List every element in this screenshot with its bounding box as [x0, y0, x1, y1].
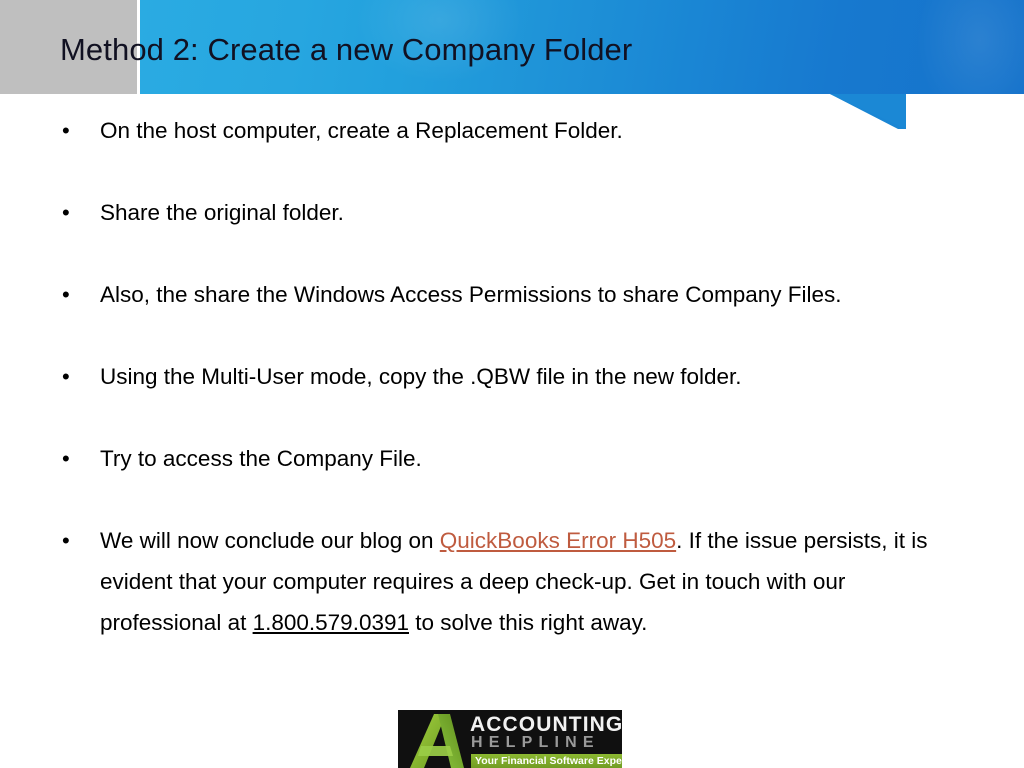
bullet-marker-icon: • [62, 274, 100, 315]
bullet-marker-icon: • [62, 438, 100, 479]
bullet-spacer [0, 479, 1024, 520]
logo-wordmark-helpline: HELPLINE [471, 734, 600, 751]
support-phone-number[interactable]: 1.800.579.0391 [253, 610, 409, 635]
logo-wordmark-accounting: ACCOUNTING [470, 714, 622, 736]
list-item: • Also, the share the Windows Access Per… [0, 274, 1024, 315]
bullet-marker-icon: • [62, 356, 100, 397]
list-item-text: Try to access the Company File. [100, 438, 422, 479]
logo-a-mark-icon [404, 712, 466, 768]
bullet-spacer [0, 397, 1024, 438]
bullet-spacer [0, 315, 1024, 356]
list-item-text: On the host computer, create a Replaceme… [100, 110, 623, 151]
conclusion-text-part-1: We will now conclude our blog on [100, 528, 440, 553]
list-item: • Using the Multi-User mode, copy the .Q… [0, 356, 1024, 397]
list-item: • Share the original folder. [0, 192, 1024, 233]
list-item-text: We will now conclude our blog on QuickBo… [100, 520, 965, 643]
logo-tagline-text: Your Financial Software Expert [475, 754, 622, 768]
list-item: • Try to access the Company File. [0, 438, 1024, 479]
list-item-text: Using the Multi-User mode, copy the .QBW… [100, 356, 742, 397]
quickbooks-error-link[interactable]: QuickBooks Error H505 [440, 528, 676, 553]
conclusion-text-part-3: to solve this right away. [409, 610, 647, 635]
bullet-marker-icon: • [62, 520, 100, 561]
bullet-list: • On the host computer, create a Replace… [0, 110, 1024, 643]
bullet-spacer [0, 151, 1024, 192]
bullet-marker-icon: • [62, 110, 100, 151]
accounting-helpline-logo: ACCOUNTING HELPLINE Your Financial Softw… [398, 710, 622, 768]
page-title: Method 2: Create a new Company Folder [60, 28, 960, 72]
bullet-marker-icon: • [62, 192, 100, 233]
list-item: • On the host computer, create a Replace… [0, 110, 1024, 151]
list-item-conclusion: • We will now conclude our blog on Quick… [0, 520, 1024, 643]
list-item-text: Share the original folder. [100, 192, 344, 233]
logo-tagline-bar: Your Financial Software Expert [471, 754, 622, 768]
list-item-text: Also, the share the Windows Access Permi… [100, 274, 842, 315]
bullet-spacer [0, 233, 1024, 274]
